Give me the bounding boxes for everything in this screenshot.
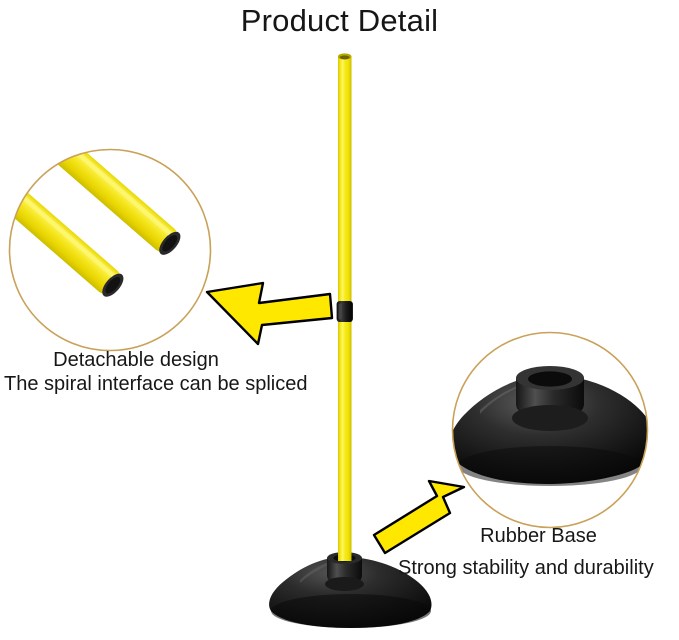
arrow-left-icon (207, 283, 332, 344)
product-detail-image: Product Detail (0, 0, 679, 640)
rubber-base-inset (449, 333, 655, 528)
detachable-design-inset (0, 104, 211, 350)
detachable-caption-line-2: The spiral interface can be spliced (4, 372, 308, 396)
detachable-caption-line-1: Detachable design (0, 348, 272, 372)
black-spiral-joint-collar (337, 301, 353, 322)
rubber-base-caption-line-2: Strong stability and durability (398, 556, 654, 580)
rubber-base-caption-line-1: Rubber Base (398, 524, 679, 548)
